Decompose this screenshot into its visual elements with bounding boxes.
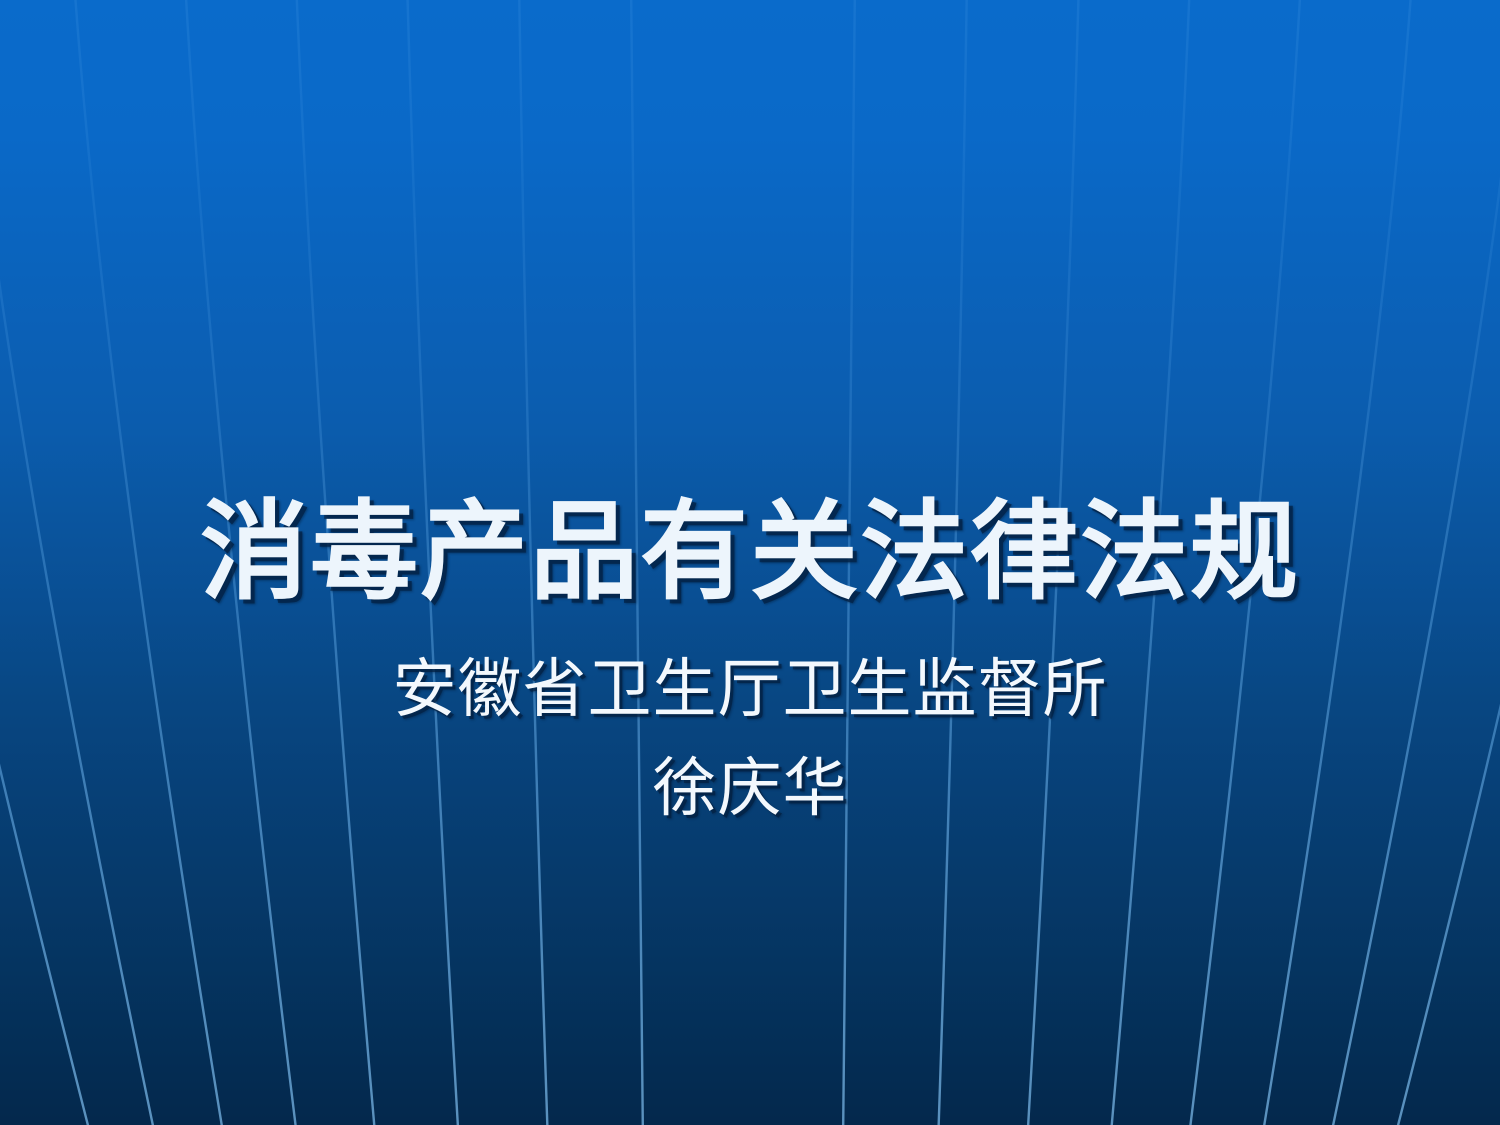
slide-subtitle: 安徽省卫生厅卫生监督所 徐庆华 xyxy=(0,640,1500,838)
slide-title: 消毒产品有关法律法规 xyxy=(0,494,1500,615)
subtitle-organization: 安徽省卫生厅卫生监督所 xyxy=(0,640,1500,739)
slide-content: 消毒产品有关法律法规 安徽省卫生厅卫生监督所 徐庆华 xyxy=(0,0,1500,1125)
title-slide: 消毒产品有关法律法规 安徽省卫生厅卫生监督所 徐庆华 xyxy=(0,0,1500,1125)
subtitle-author: 徐庆华 xyxy=(0,739,1500,838)
